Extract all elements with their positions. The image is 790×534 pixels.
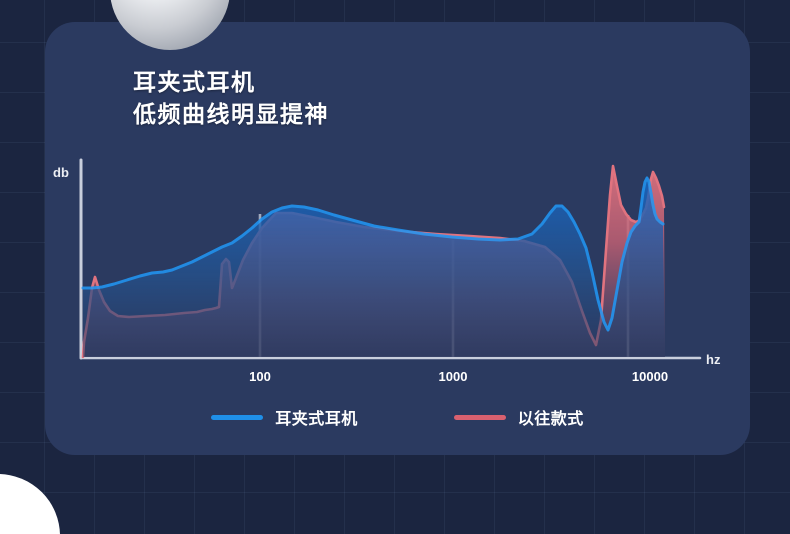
title-line-1: 耳夹式耳机 <box>133 66 329 98</box>
legend-item-clip-on[interactable]: 耳夹式耳机 <box>211 405 358 429</box>
legend-label-clip-on: 耳夹式耳机 <box>275 405 358 429</box>
legend-item-previous-model[interactable]: 以往款式 <box>454 405 584 429</box>
chart-card: 耳夹式耳机 低频曲线明显提神 <box>45 22 750 455</box>
legend-label-previous-model: 以往款式 <box>518 405 584 429</box>
title-line-2: 低频曲线明显提神 <box>133 98 329 130</box>
card-titles: 耳夹式耳机 低频曲线明显提神 <box>133 66 329 130</box>
silver-sphere-decoration <box>110 0 230 50</box>
legend-swatch-previous-model <box>454 415 506 420</box>
legend-swatch-clip-on <box>211 415 263 420</box>
chart-legend: 耳夹式耳机 以往款式 <box>45 405 750 429</box>
screenshot-root: 耳夹式耳机 低频曲线明显提神 <box>0 0 790 534</box>
